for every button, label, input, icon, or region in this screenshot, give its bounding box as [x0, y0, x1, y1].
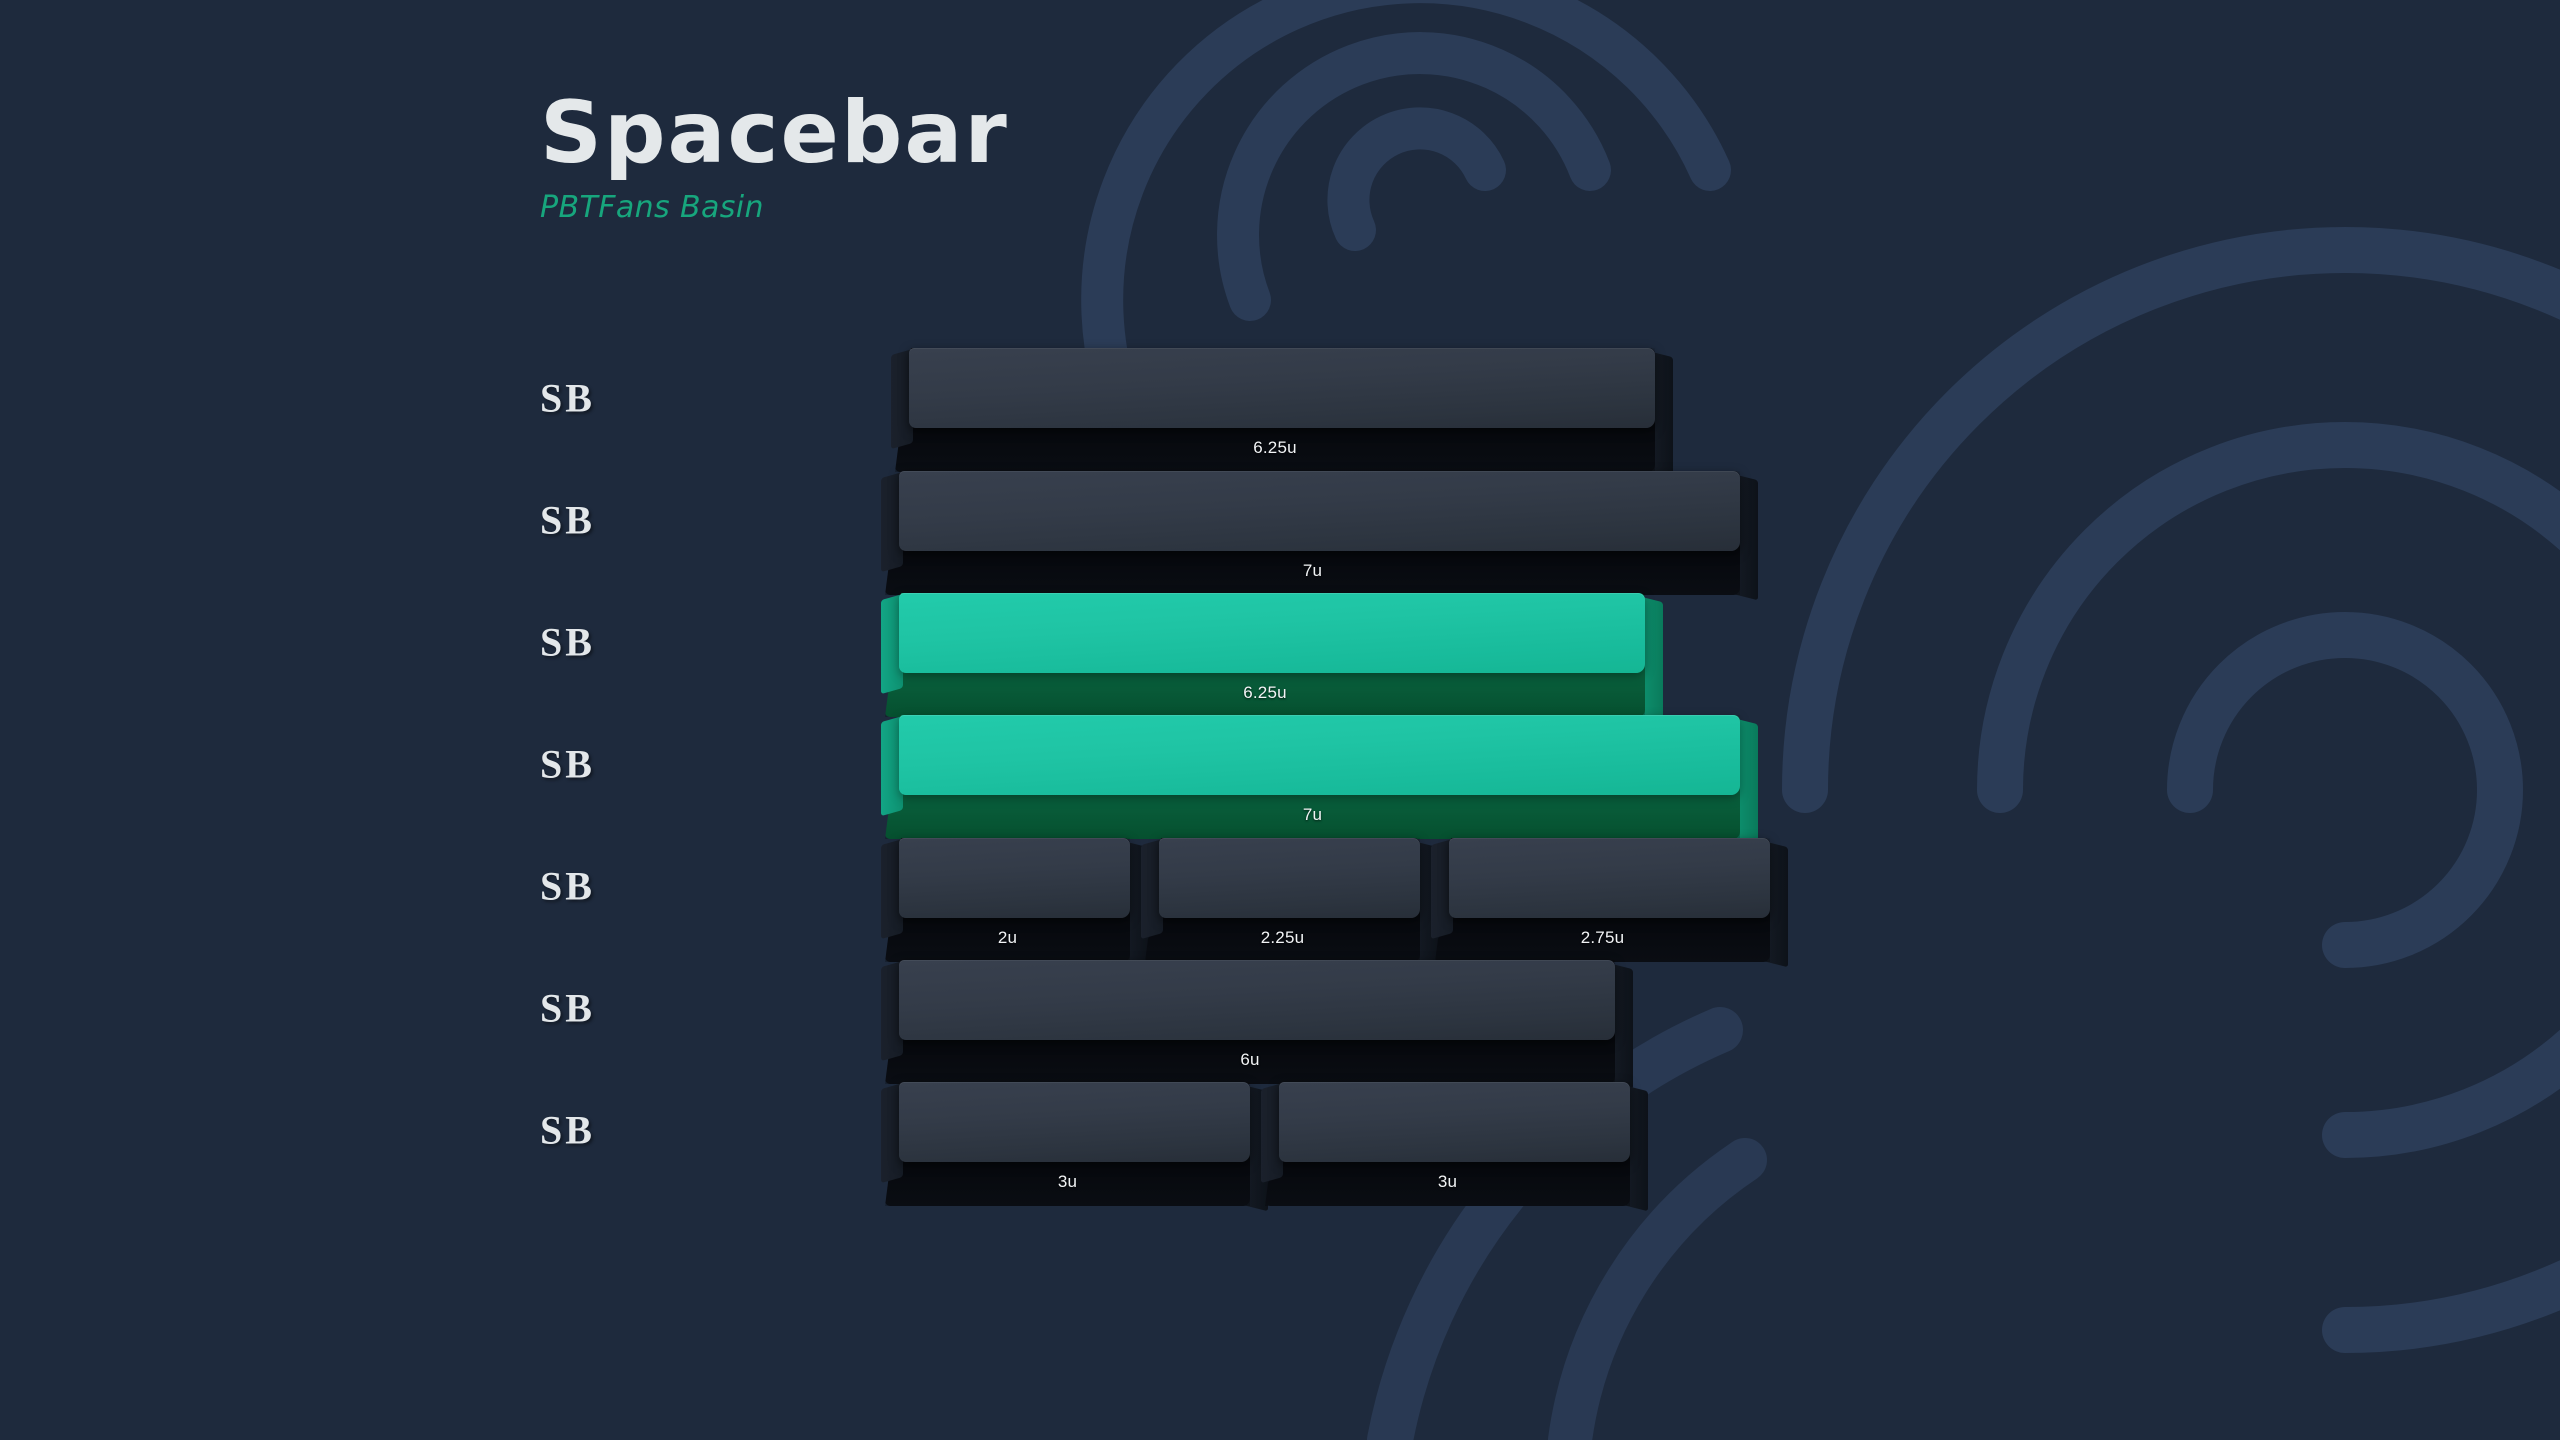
keycap-dk-6-25u[interactable]: 6.25u [895, 348, 1655, 472]
keycap-top-surface [1159, 838, 1420, 918]
keycap-dk-2u[interactable]: 2u [885, 838, 1130, 962]
keycap-top-surface [899, 593, 1645, 673]
keycap-gn-7u[interactable]: 7u [885, 715, 1740, 839]
keycap-dk-3u[interactable]: 3u [885, 1082, 1250, 1206]
keycap-dk-2-25u[interactable]: 2.25u [1145, 838, 1420, 962]
row-profile-label-2: SB [540, 497, 595, 544]
header: Spacebar PBTFans Basin [540, 90, 1009, 225]
keycap-gn-6-25u[interactable]: 6.25u [885, 593, 1645, 717]
keycap-board: 6.25u7u6.25u7u2u2.25u2.75u6u3u3u [0, 0, 2560, 1440]
keycap-top-surface [899, 471, 1740, 551]
keycap-top-surface [1449, 838, 1770, 918]
keycap-dk-3u[interactable]: 3u [1265, 1082, 1630, 1206]
keycap-dk-6u[interactable]: 6u [885, 960, 1615, 1084]
row-profile-label-3: SB [540, 619, 595, 666]
keycap-top-surface [899, 715, 1740, 795]
row-profile-label-1: SB [540, 375, 595, 422]
page-subtitle: PBTFans Basin [540, 190, 1009, 225]
keycap-top-surface [1279, 1082, 1630, 1162]
row-profile-label-5: SB [540, 863, 595, 910]
keycap-top-surface [899, 960, 1615, 1040]
row-profile-label-4: SB [540, 741, 595, 788]
keycap-top-surface [899, 1082, 1250, 1162]
row-profile-label-7: SB [540, 1107, 595, 1154]
row-profile-label-6: SB [540, 985, 595, 1032]
poster-canvas: Spacebar PBTFans Basin SBSBSBSBSBSBSB 6.… [0, 0, 2560, 1440]
keycap-top-surface [909, 348, 1655, 428]
keycap-dk-2-75u[interactable]: 2.75u [1435, 838, 1770, 962]
keycap-top-surface [899, 838, 1130, 918]
page-title: Spacebar [540, 90, 1009, 176]
keycap-dk-7u[interactable]: 7u [885, 471, 1740, 595]
